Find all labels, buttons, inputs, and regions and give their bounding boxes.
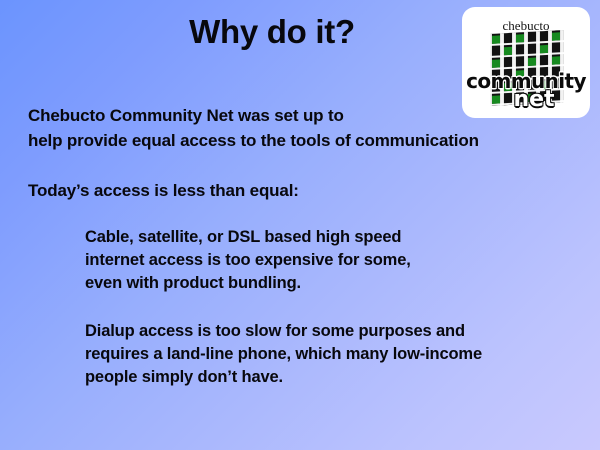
presentation-slide: Why do it? chebucto community net <box>0 0 600 450</box>
slide-body: Chebucto Community Net was set up to hel… <box>28 103 584 203</box>
logo-chebucto-text: chebucto <box>462 19 590 32</box>
chebucto-community-net-logo: chebucto community net <box>462 7 590 118</box>
slide-bullet-block: Cable, satellite, or DSL based high spee… <box>85 226 590 389</box>
body-paragraph-question: Today’s access is less than equal: <box>28 178 584 203</box>
body-paragraph-lead: Chebucto Community Net was set up to hel… <box>28 103 584 153</box>
bullet-paragraph-dialup: Dialup access is too slow for some purpo… <box>85 320 590 389</box>
bullet-paragraph-broadband: Cable, satellite, or DSL based high spee… <box>85 226 590 295</box>
logo-artwork: chebucto community net <box>462 7 590 118</box>
